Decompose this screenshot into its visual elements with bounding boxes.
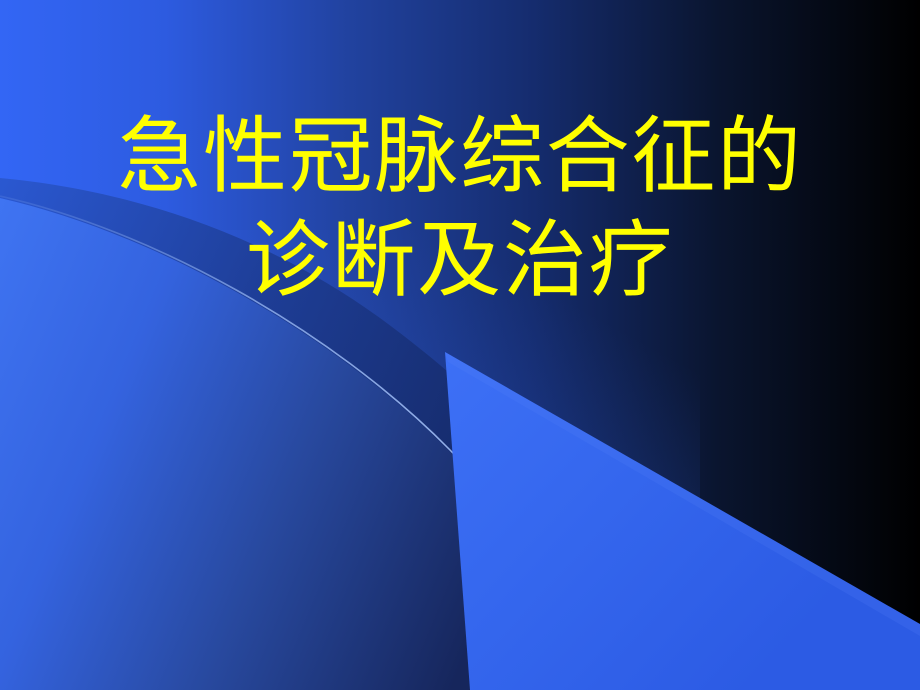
slide-background	[0, 0, 920, 690]
title-slide: 急性冠脉综合征的 诊断及治疗	[0, 0, 920, 690]
